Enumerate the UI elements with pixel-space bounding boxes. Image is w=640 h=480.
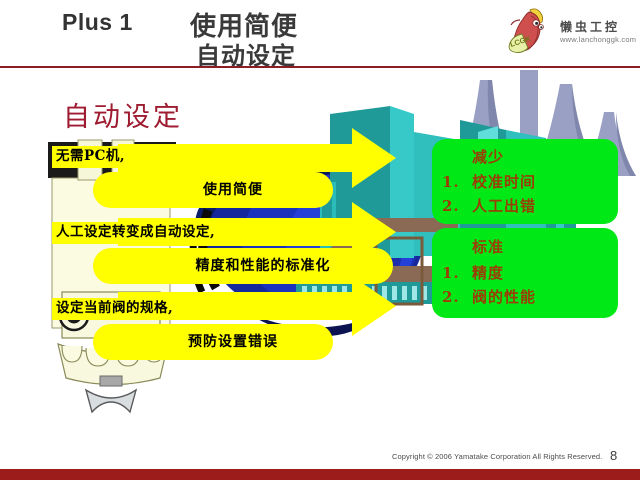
- result-box-standard-item-1: 1.精度: [442, 262, 504, 283]
- callout-pill-3-text: 预防设置错误: [148, 334, 278, 350]
- callout-strip-2: 人工设定转变成自动设定,: [52, 222, 219, 244]
- caterpillar-mascot-icon: LCGK: [500, 6, 558, 58]
- result-box-standard: 标准 1.精度 2.阀的性能: [432, 228, 618, 318]
- callout-pill-1-text: 使用简便: [163, 182, 263, 198]
- footer-page-number: 8: [610, 448, 617, 463]
- result-box-reduce-heading: 减少: [472, 146, 504, 167]
- logo-brand-name: 懒虫工控: [560, 18, 620, 35]
- result-box-reduce: 减少 1.校准时间 2.人工出错: [432, 139, 618, 224]
- callout-pill-2-text: 精度和性能的标准化: [156, 258, 331, 274]
- header-divider: [0, 66, 640, 68]
- result-box-standard-item-2: 2.阀的性能: [442, 286, 536, 307]
- result-box-standard-heading: 标准: [472, 236, 504, 257]
- footer-copyright: Copyright © 2006 Yamatake Corporation Al…: [392, 452, 602, 461]
- result-item-number: 1.: [442, 173, 472, 191]
- result-box-reduce-item-2: 2.人工出错: [442, 195, 536, 216]
- result-item-label: 精度: [472, 264, 504, 282]
- brand-logo: LCGK 懒虫工控 www.lanchonggk.com: [500, 6, 634, 58]
- result-item-label: 人工出错: [472, 197, 536, 215]
- header-plus-label: Plus 1: [62, 9, 133, 36]
- result-item-number: 2.: [442, 288, 472, 306]
- footer-bar: [0, 469, 640, 480]
- result-item-number: 2.: [442, 197, 472, 215]
- callout-pill-3: 预防设置错误: [93, 324, 333, 360]
- callout-strip-1: 无需PC机,: [52, 146, 129, 168]
- result-box-reduce-item-1: 1.校准时间: [442, 171, 536, 192]
- result-item-label: 校准时间: [472, 173, 536, 191]
- result-item-number: 1.: [442, 264, 472, 282]
- callout-pill-1: 使用简便: [93, 172, 333, 208]
- callout-strip-3: 设定当前阀的规格,: [52, 298, 177, 320]
- callout-pill-2: 精度和性能的标准化: [93, 248, 393, 284]
- logo-brand-url: www.lanchonggk.com: [560, 35, 636, 44]
- result-item-label: 阀的性能: [472, 288, 536, 306]
